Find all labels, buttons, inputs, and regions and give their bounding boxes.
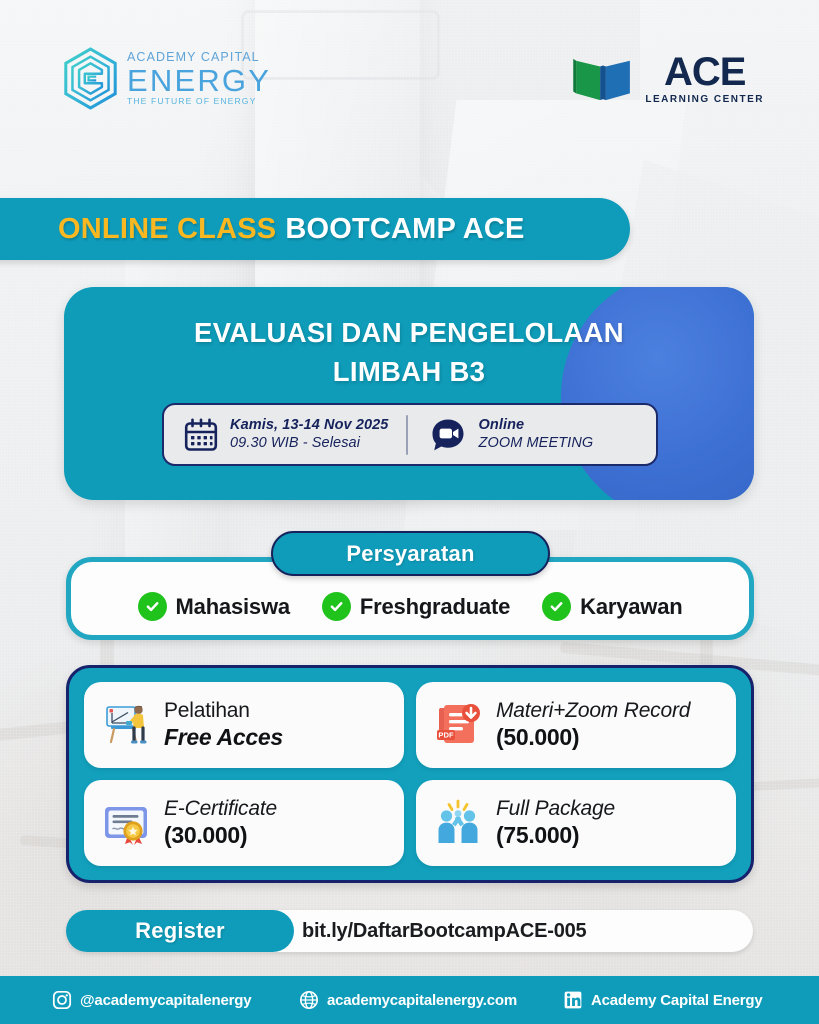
event-date-secondary: 09.30 WIB - Selesai bbox=[230, 435, 388, 453]
requirement-label-1: Freshgraduate bbox=[360, 594, 510, 620]
event-platform-secondary: ZOOM MEETING bbox=[478, 435, 593, 453]
certificate-medal-icon bbox=[100, 797, 152, 849]
academy-capital-energy-logo: ACADEMY CAPITAL ENERGY THE FUTURE OF ENE… bbox=[62, 47, 271, 110]
requirements-badge-label: Persyaratan bbox=[346, 541, 474, 567]
event-date-cell: Kamis, 13-14 Nov 2025 09.30 WIB - Selesa… bbox=[164, 417, 402, 452]
ace-learning-center-logo: ACE LEARNING CENTER bbox=[572, 52, 764, 105]
requirement-label-0: Mahasiswa bbox=[176, 594, 290, 620]
requirement-item-2: Karyawan bbox=[542, 592, 682, 621]
event-title-line1: EVALUASI DAN PENGELOLAAN bbox=[64, 313, 754, 352]
event-date-primary: Kamis, 13-14 Nov 2025 bbox=[230, 417, 388, 435]
event-platform-cell: Online ZOOM MEETING bbox=[416, 417, 607, 453]
event-info-box: Kamis, 13-14 Nov 2025 09.30 WIB - Selesa… bbox=[162, 403, 658, 466]
event-platform-primary: Online bbox=[478, 417, 593, 435]
banner-rest-text: BOOTCAMP ACE bbox=[285, 213, 524, 246]
hero-card: EVALUASI DAN PENGELOLAAN LIMBAH B3 bbox=[64, 287, 754, 500]
energy-logo-line2: ENERGY bbox=[127, 65, 271, 96]
svg-text:PDF: PDF bbox=[438, 731, 454, 740]
ace-logo-subtitle: LEARNING CENTER bbox=[645, 95, 764, 105]
event-title-line2: LIMBAH B3 bbox=[64, 352, 754, 391]
register-button[interactable]: Register bbox=[66, 910, 294, 952]
benefit-line2-1: (50.000) bbox=[496, 724, 690, 751]
energy-logo-tagline: THE FUTURE OF ENERGY bbox=[127, 97, 271, 106]
benefit-item-2: E-Certificate (30.000) bbox=[84, 780, 404, 866]
ace-logo-title: ACE bbox=[664, 52, 745, 92]
hexagon-maze-icon bbox=[62, 47, 119, 110]
benefit-line2-3: (75.000) bbox=[496, 822, 615, 849]
online-class-banner: ONLINE CLASS BOOTCAMP ACE bbox=[0, 198, 630, 260]
pdf-download-icon: PDF bbox=[432, 699, 484, 751]
calendar-icon bbox=[184, 418, 218, 452]
benefit-line1-3: Full Package bbox=[496, 797, 615, 821]
requirements-badge: Persyaratan bbox=[271, 531, 550, 576]
presenter-whiteboard-icon bbox=[100, 699, 152, 751]
open-book-icon bbox=[572, 55, 634, 103]
footer-instagram-label: @academycapitalenergy bbox=[80, 992, 251, 1009]
linkedin-icon bbox=[563, 990, 583, 1010]
footer-bar: @academycapitalenergy academycapitalener… bbox=[0, 976, 819, 1024]
register-button-label: Register bbox=[135, 918, 225, 944]
benefit-line2-2: (30.000) bbox=[164, 822, 277, 849]
footer-instagram[interactable]: @academycapitalenergy bbox=[52, 990, 251, 1010]
benefit-line1-0: Pelatihan bbox=[164, 699, 283, 723]
globe-icon bbox=[299, 990, 319, 1010]
footer-linkedin[interactable]: Academy Capital Energy bbox=[563, 990, 763, 1010]
info-divider bbox=[406, 415, 408, 455]
instagram-icon bbox=[52, 990, 72, 1010]
footer-website-label: academycapitalenergy.com bbox=[327, 992, 517, 1009]
benefit-item-0: Pelatihan Free Acces bbox=[84, 682, 404, 768]
register-url-text: bit.ly/DaftarBootcampACE-005 bbox=[302, 920, 586, 943]
requirement-item-0: Mahasiswa bbox=[138, 592, 290, 621]
requirement-item-1: Freshgraduate bbox=[322, 592, 510, 621]
requirement-label-2: Karyawan bbox=[580, 594, 682, 620]
benefits-card: Pelatihan Free Acces bbox=[66, 665, 754, 883]
check-circle-icon bbox=[542, 592, 571, 621]
register-row: bit.ly/DaftarBootcampACE-005 Register bbox=[66, 910, 753, 952]
banner-highlight-text: ONLINE CLASS bbox=[58, 213, 276, 246]
check-circle-icon bbox=[138, 592, 167, 621]
benefit-line1-2: E-Certificate bbox=[164, 797, 277, 821]
benefit-item-1: PDF Materi+Zoom Record (50.000) bbox=[416, 682, 736, 768]
benefit-item-3: Full Package (75.000) bbox=[416, 780, 736, 866]
poster-content: ACADEMY CAPITAL ENERGY THE FUTURE OF ENE… bbox=[0, 0, 819, 1024]
footer-website[interactable]: academycapitalenergy.com bbox=[299, 990, 517, 1010]
check-circle-icon bbox=[322, 592, 351, 621]
high-five-people-icon bbox=[432, 797, 484, 849]
benefit-line1-1: Materi+Zoom Record bbox=[496, 699, 690, 723]
video-chat-icon bbox=[430, 417, 466, 453]
benefit-line2-0: Free Acces bbox=[164, 724, 283, 751]
footer-linkedin-label: Academy Capital Energy bbox=[591, 992, 763, 1009]
